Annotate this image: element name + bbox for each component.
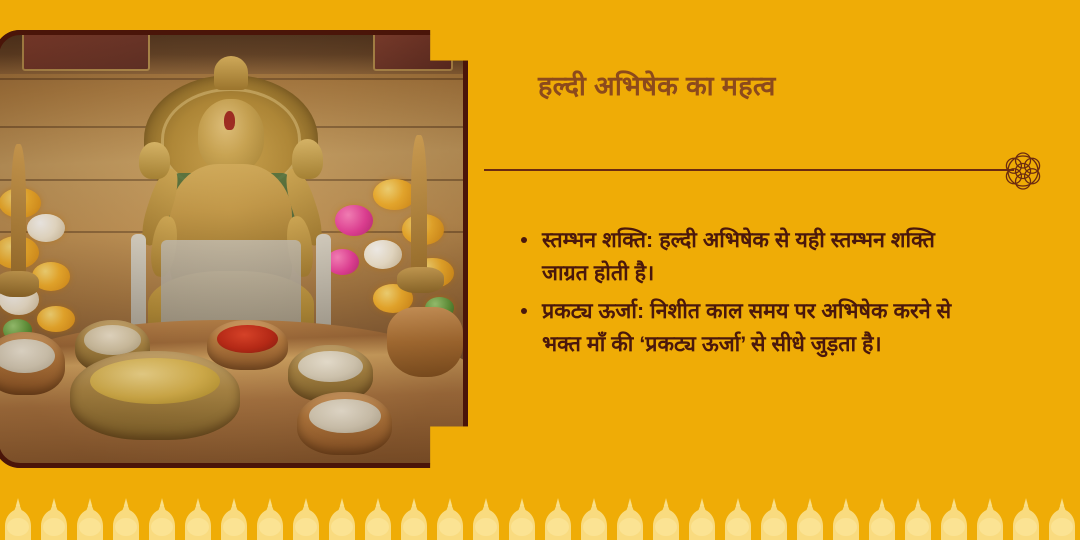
title-divider — [484, 169, 1014, 171]
temple-dome-border — [0, 494, 1080, 540]
bullet-text: प्रकट्य ऊर्जा: निशीत काल समय पर अभिषेक क… — [542, 299, 951, 356]
puja-photograph — [0, 30, 468, 468]
slide-canvas: हल्दी अभिषेक का महत्व स्तम्भन शक्ति: हल्… — [0, 0, 1080, 540]
photo-panel — [0, 30, 468, 468]
photo-clip — [0, 30, 468, 468]
bullet-text: स्तम्भन शक्ति: हल्दी अभिषेक से यही स्तम्… — [542, 228, 935, 285]
mandala-rosette-icon — [998, 146, 1048, 196]
page-title: हल्दी अभिषेक का महत्व — [538, 70, 1008, 104]
list-item: प्रकट्य ऊर्जा: निशीत काल समय पर अभिषेक क… — [516, 295, 986, 360]
photo-vignette — [0, 30, 468, 468]
list-item: स्तम्भन शक्ति: हल्दी अभिषेक से यही स्तम्… — [516, 224, 986, 289]
key-points-list: स्तम्भन शक्ति: हल्दी अभिषेक से यही स्तम्… — [516, 224, 986, 367]
